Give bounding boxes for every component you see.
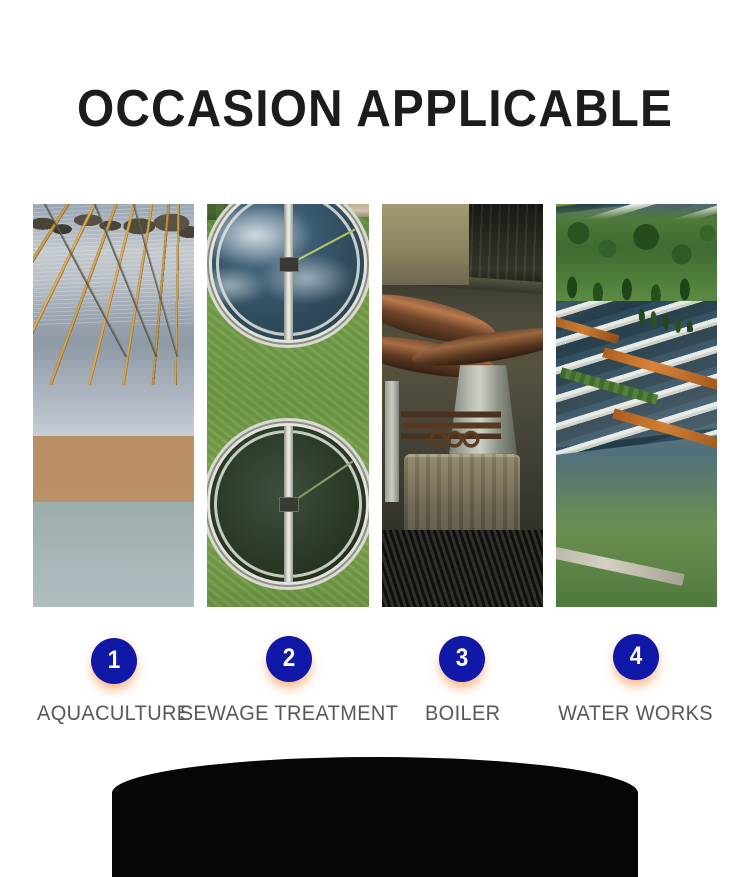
clarifier-tank-upper [212, 204, 364, 340]
occasion-image-strip [33, 204, 717, 607]
occasion-label: SEWAGE TREATMENT [179, 702, 398, 726]
occasion-image-water-works [556, 204, 717, 607]
back-wall [382, 204, 469, 285]
metal-floor-grating [382, 530, 543, 607]
occasion-label: BOILER [425, 702, 500, 726]
occasion-image-sewage-treatment [207, 204, 368, 607]
badge-number: 4 [630, 644, 643, 669]
metal-door-frame [385, 381, 400, 502]
step-number-badge: 2 [266, 636, 312, 682]
foreground-haze [33, 204, 194, 607]
step-number-badge: 1 [91, 638, 137, 684]
foreground-trees [556, 204, 717, 301]
badge-number: 3 [456, 646, 469, 671]
step-number-badge: 3 [439, 636, 485, 682]
step-number-badge: 4 [613, 634, 659, 680]
occasion-item-water-works: 4 WATER WORKS [555, 620, 717, 730]
badge-number: 2 [282, 646, 295, 671]
occasion-item-sewage-treatment: 2 SEWAGE TREATMENT [208, 620, 370, 730]
tank-bridge [284, 204, 293, 340]
occasion-image-boiler [382, 204, 543, 607]
occasion-image-aquaculture [33, 204, 194, 607]
occasion-item-aquaculture: 1 AQUACULTURE [33, 620, 195, 730]
badge-number: 1 [108, 648, 121, 673]
occasion-caption-row: 1 AQUACULTURE 2 SEWAGE TREATMENT 3 BOILE… [33, 620, 717, 730]
next-section-image-top-edge [112, 757, 638, 877]
occasion-item-boiler: 3 BOILER [383, 620, 542, 730]
occasion-label: AQUACULTURE [37, 702, 190, 726]
clarifier-tank-lower [210, 426, 366, 582]
tank-center-hub [279, 497, 299, 512]
page-title: OCCASION APPLICABLE [30, 78, 720, 140]
concrete-texture [404, 454, 520, 543]
occasion-label: WATER WORKS [559, 702, 714, 726]
tank-center-hub [279, 257, 299, 272]
